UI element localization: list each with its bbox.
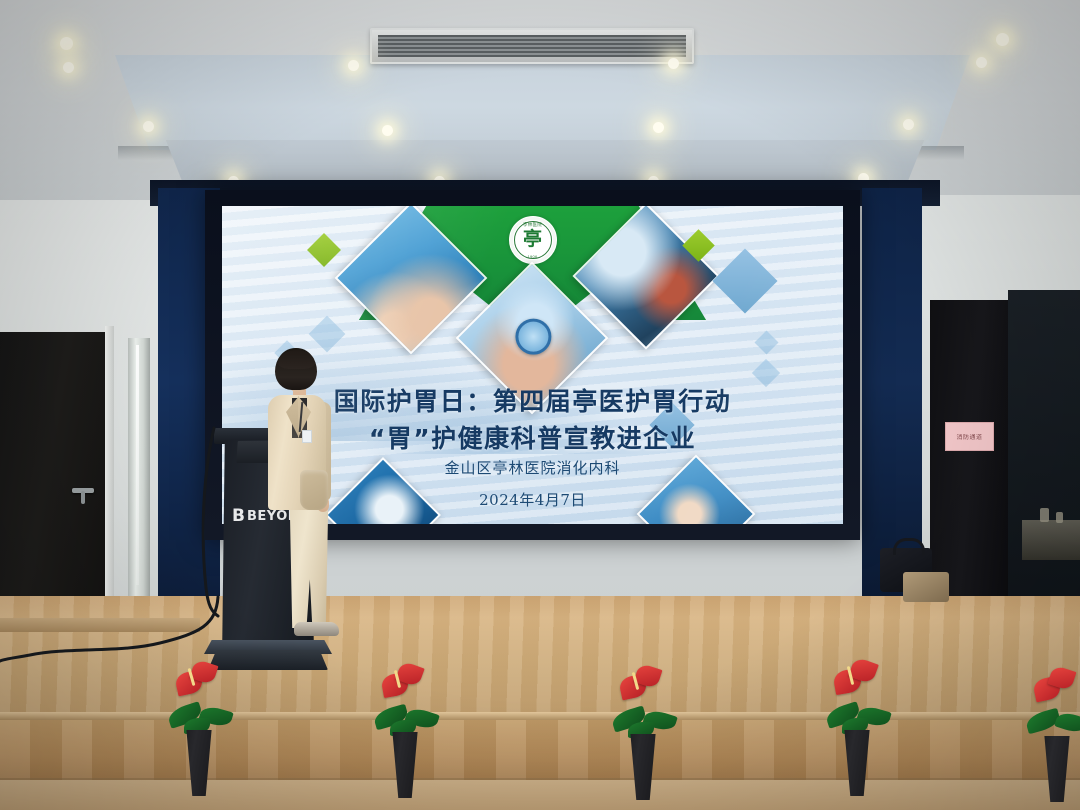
- speaker-bag: [300, 470, 328, 510]
- podium-cable: [180, 420, 260, 620]
- ceiling-spotlight: [976, 57, 987, 68]
- ceiling-spotlight: [348, 60, 359, 71]
- stage-front-panel: [0, 720, 1080, 782]
- speaker-name-badge: [302, 430, 312, 443]
- bag-handle: [893, 538, 925, 555]
- stethoscope-icon: [515, 319, 551, 355]
- column-highlight: [136, 345, 139, 585]
- door-sign-text: 消防通道: [956, 432, 982, 440]
- ceiling-spotlight: [668, 58, 679, 69]
- ceiling-spotlight: [60, 37, 73, 50]
- far-table: [1022, 520, 1080, 560]
- door-sign: 消防通道: [945, 422, 994, 451]
- ceiling-spotlight: [903, 119, 914, 130]
- vent-grill: [378, 35, 686, 57]
- hospital-logo-icon: 亭林医院 亭 1906: [509, 216, 557, 264]
- far-object: [1056, 512, 1063, 523]
- ceiling-recess-upper: [115, 55, 970, 150]
- air-vent-icon: [370, 28, 694, 64]
- speaker-fringe: [278, 350, 315, 369]
- ceiling-spotlight: [653, 122, 664, 133]
- ceiling-spotlight: [143, 121, 154, 132]
- stage-panel-grain: [0, 720, 1080, 782]
- ceiling-spotlight: [996, 33, 1009, 46]
- doorway-far-right: [1008, 290, 1080, 640]
- bag-tan: [903, 572, 949, 602]
- conference-room-photo: 消防通道 亭林医院 亭 1906: [0, 0, 1080, 810]
- logo-top-text: 亭林医院: [510, 222, 556, 228]
- logo-bottom-text: 1906: [510, 254, 556, 259]
- door-handle-icon[interactable]: [72, 488, 94, 493]
- speaker-shoe-right: [309, 622, 339, 636]
- ceiling-spotlight: [63, 62, 74, 73]
- metal-column: [128, 338, 150, 610]
- room-floor: [0, 780, 1080, 810]
- far-object: [1040, 508, 1049, 522]
- ceiling-spotlight: [382, 125, 393, 136]
